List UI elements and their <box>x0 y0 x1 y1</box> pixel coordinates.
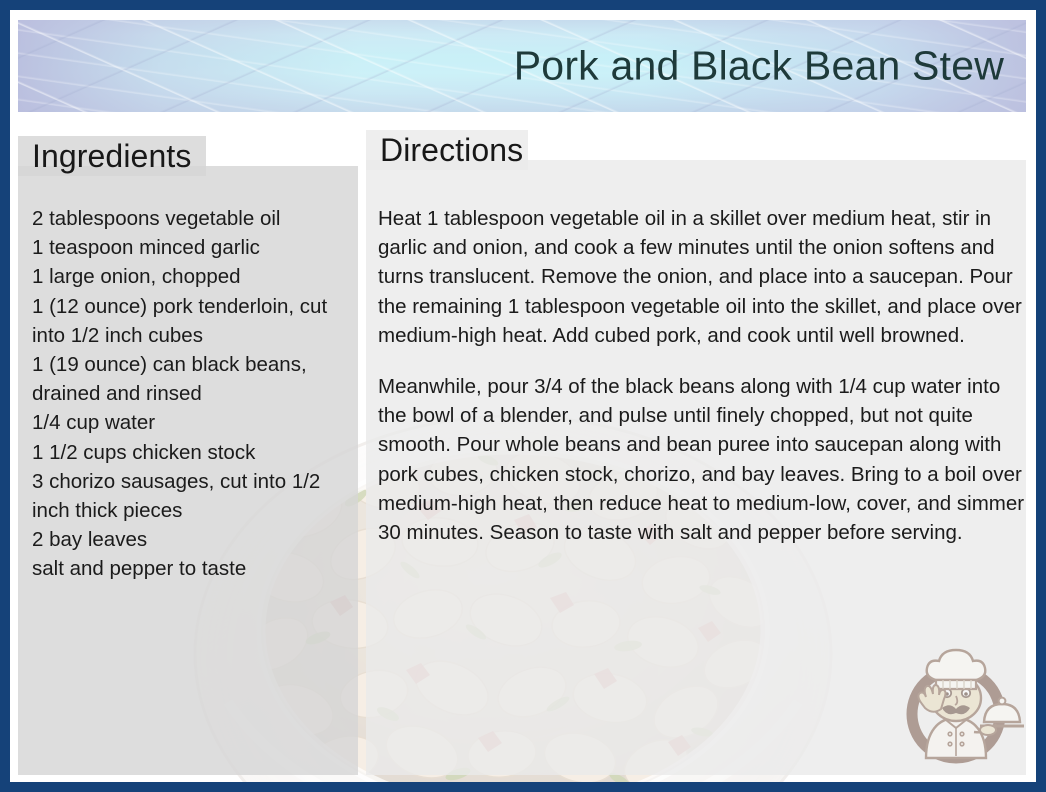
ingredient-item: 1 (12 ounce) pork tenderloin, cut into 1… <box>32 292 350 350</box>
ingredients-list: 2 tablespoons vegetable oil1 teaspoon mi… <box>32 204 350 584</box>
ingredient-item: 2 tablespoons vegetable oil <box>32 204 350 233</box>
recipe-title: Pork and Black Bean Stew <box>514 43 1004 90</box>
directions-heading-label: Directions <box>380 132 523 169</box>
direction-paragraph: Heat 1 tablespoon vegetable oil in a ski… <box>378 204 1030 350</box>
ingredient-item: 1 1/2 cups chicken stock <box>32 438 350 467</box>
recipe-card: Pork and Black Bean Stew Ingredients 2 t… <box>0 0 1046 792</box>
directions-heading-tab: Directions <box>366 130 528 170</box>
ingredient-item: 3 chorizo sausages, cut into 1/2 inch th… <box>32 467 350 525</box>
directions-body: Heat 1 tablespoon vegetable oil in a ski… <box>378 204 1030 547</box>
ingredient-item: 1/4 cup water <box>32 408 350 437</box>
ingredient-item: salt and pepper to taste <box>32 554 350 583</box>
page-surface: Pork and Black Bean Stew Ingredients 2 t… <box>10 10 1036 782</box>
ingredient-item: 1 large onion, chopped <box>32 262 350 291</box>
ingredient-item: 1 (19 ounce) can black beans, drained an… <box>32 350 350 408</box>
ingredients-heading-label: Ingredients <box>32 138 191 175</box>
ingredient-item: 2 bay leaves <box>32 525 350 554</box>
ingredients-heading-tab: Ingredients <box>18 136 206 176</box>
ingredient-item: 1 teaspoon minced garlic <box>32 233 350 262</box>
title-banner: Pork and Black Bean Stew <box>18 20 1026 112</box>
direction-paragraph: Meanwhile, pour 3/4 of the black beans a… <box>378 372 1030 547</box>
